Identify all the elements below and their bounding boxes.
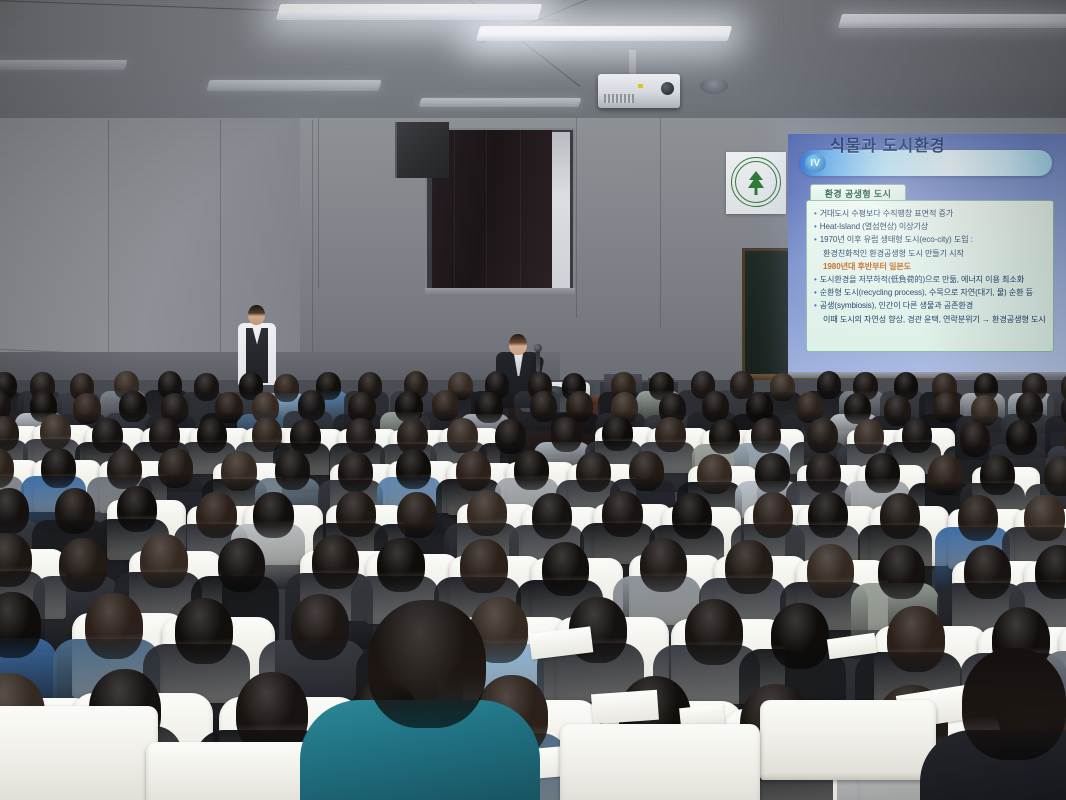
audience-member-head [1044, 456, 1066, 496]
slide-bullet: • Heat-Island (열섬현상) 이상기상 [814, 220, 1046, 233]
audience-member-head [865, 453, 900, 493]
audience-member-head [194, 373, 219, 401]
slide-bullet: • 거대도시 수평보다 수직팽창 표면적 증가 [814, 207, 1046, 220]
audience-member-head [85, 593, 143, 659]
wall-panel-seam [108, 120, 109, 370]
audience-member-head [275, 450, 310, 490]
audience-member-head [933, 392, 960, 423]
bullet-dot-icon: • [814, 207, 817, 220]
slide-bullet-text: 환경친화적인 환경공생형 도시 만들기 시작 [823, 247, 964, 260]
presenter-head [509, 334, 527, 355]
slide-bullet-text: Heat-Island (열섬현상) 이상기상 [820, 220, 929, 233]
audience-member-head [432, 390, 459, 421]
wall-panel-seam [660, 118, 661, 328]
audience-member-head [602, 416, 633, 451]
bullet-dot-icon: • [814, 286, 817, 299]
audience-member-head [197, 418, 228, 453]
audience-member-head [73, 393, 100, 424]
audience-member-head [928, 455, 963, 495]
wall-panel-seam [312, 120, 313, 382]
institution-emblem [726, 152, 786, 214]
audience-member-head [312, 535, 360, 589]
audience-member-head [41, 448, 76, 488]
audience-member-head [751, 418, 782, 453]
slide-bullet-text: 1980년대 후반부터 일본도 [823, 260, 911, 273]
audience-member-head [495, 419, 526, 454]
slide-bullet: • 순환형 도시(recycling process), 수목으로 자연(대기,… [814, 286, 1046, 299]
projector-lens [661, 82, 674, 95]
projector-vent [604, 94, 634, 103]
audience-member-head [807, 544, 855, 598]
audience-member-head [55, 488, 96, 534]
audience-member-head [753, 492, 794, 538]
audience-member-head [770, 373, 795, 401]
slide-bullet-sub: 이때 도시의 자연성 향상, 경관 윤택, 연락분위기 → 환경공생형 도시 [814, 313, 1046, 326]
audience-member-head [532, 493, 573, 539]
foreground-attendee-head [368, 600, 486, 728]
slide-bullet-accent: 1980년대 후반부터 일본도 [814, 260, 1046, 273]
slide-surface: IV 식물과 도시환경 환경 공생형 도시 • 거대도시 수평보다 수직팽창 표… [788, 134, 1066, 372]
audience-member-head [395, 391, 422, 422]
audience-member-head [640, 538, 688, 592]
audience-member-head [697, 454, 732, 494]
audience-member-head [175, 598, 233, 664]
audience-member-head [117, 486, 158, 532]
audience-member-head [725, 540, 773, 594]
slide-bullet-text: 도시환경을 저부하적(低負荷的)으로 만듦, 에너지 이용 최소화 [820, 273, 1024, 286]
audience-member-head [602, 491, 643, 537]
audience-member-head [971, 395, 998, 426]
audience-member-head [530, 391, 557, 422]
audience-member-head [456, 451, 491, 491]
audience-member-head [902, 418, 933, 453]
audience-member-head [447, 418, 478, 453]
audience-member-head [807, 418, 838, 453]
tree-icon [741, 168, 771, 198]
audience-member-head [958, 495, 999, 541]
audience-member-head [514, 450, 549, 490]
audience-member-head [629, 451, 664, 491]
audience-member-head [817, 371, 842, 399]
audience-member-head [960, 422, 991, 457]
audience-member-head [158, 448, 193, 488]
audience-member-head [92, 418, 123, 453]
audience-member-head [59, 538, 107, 592]
bullet-dot-icon: • [814, 233, 817, 246]
audience-member-head [40, 414, 71, 449]
slide-bullet: • 1970년 이후 유럽 생태형 도시(eco-city) 도입 : [814, 233, 1046, 246]
slide-bullet-sub: 환경친화적인 환경공생형 도시 만들기 시작 [814, 247, 1046, 260]
audience-member-head [709, 419, 740, 454]
microphone-head [534, 344, 542, 352]
audience-member-head [685, 599, 743, 665]
slide-bullet-text: 1970년 이후 유럽 생태형 도시(eco-city) 도입 : [820, 233, 973, 246]
window-curtain [432, 130, 552, 292]
standing-attendant-head [248, 305, 265, 325]
audience-member-head [576, 452, 611, 492]
audience-member-head [806, 453, 841, 493]
slide-title: 식물과 도시환경 [830, 136, 946, 158]
audience-member-head [655, 417, 686, 452]
slide-bullet: • 도시환경을 저부하적(低負荷的)으로 만듦, 에너지 이용 최소화 [814, 273, 1046, 286]
audience-member-head [551, 417, 582, 452]
audience-member-head [298, 390, 325, 421]
audience-member-head [1016, 392, 1043, 423]
notebook-paper [591, 690, 659, 725]
audience-member-head [1024, 495, 1065, 541]
bullet-dot-icon: • [814, 273, 817, 286]
audience-member-head [221, 451, 256, 491]
bullet-dot-icon: • [814, 299, 817, 312]
slide-bullet: • 공생(symbiosis), 인간이 다른 생물과 공존환경 [814, 299, 1046, 312]
audience-member-head [854, 419, 885, 454]
audience-member-head [542, 542, 590, 596]
audience-member-head [964, 545, 1012, 599]
audience-member-head [253, 492, 294, 538]
bullet-dot-icon: • [814, 220, 817, 233]
audience-member-head [107, 449, 142, 489]
chair [760, 700, 936, 780]
window-daylight-gap [552, 132, 570, 290]
slide-bullet-text: 거대도시 수평보다 수직팽창 표면적 증가 [820, 207, 953, 220]
audience-member-head [218, 538, 266, 592]
audience-member-head [771, 603, 829, 669]
audience-member-head [475, 392, 502, 423]
audience-member-head [878, 545, 926, 599]
audience-member-head [291, 594, 349, 660]
projector-led [638, 84, 643, 88]
audience-member-head [346, 418, 377, 453]
chair [0, 706, 158, 800]
audience-member-head [1035, 545, 1066, 599]
audience-member-head [274, 374, 299, 402]
slide-section-number: IV [805, 154, 826, 172]
ceiling-vent [700, 78, 728, 94]
ceiling-light [419, 98, 582, 107]
wall-panel-seam [576, 118, 577, 318]
ceiling-light [476, 26, 732, 41]
audience-member-head [460, 539, 508, 593]
audience-member-head [140, 534, 188, 588]
audience-member-head [1006, 420, 1037, 455]
audience-member-head [377, 538, 425, 592]
wall-speaker [395, 122, 449, 178]
audience-member-head [336, 491, 377, 537]
slide-bullet-text: 순환형 도시(recycling process), 수목으로 자연(대기, 물… [820, 286, 1033, 299]
chair [560, 724, 760, 800]
projection-screen: IV 식물과 도시환경 환경 공생형 도시 • 거대도시 수평보다 수직팽창 표… [788, 134, 1066, 378]
window-sill [425, 288, 575, 296]
audience-member-head [290, 419, 321, 454]
audience-member-head [702, 391, 729, 422]
audience-member-head [672, 493, 713, 539]
audience-member-head [980, 455, 1015, 495]
audience-member-head [755, 453, 790, 493]
audience-member-head [196, 492, 237, 538]
wall-panel-seam [220, 120, 221, 378]
photo-scene: IV 식물과 도시환경 환경 공생형 도시 • 거대도시 수평보다 수직팽창 표… [0, 0, 1066, 800]
audience-member-head [808, 492, 849, 538]
audience-member-head [338, 452, 373, 492]
slide-bullet-text: 공생(symbiosis), 인간이 다른 생물과 공존환경 [820, 299, 973, 312]
audience-member-head [119, 391, 146, 422]
audience-member-head [880, 493, 921, 539]
slide-body-panel: • 거대도시 수평보다 수직팽창 표면적 증가 • Heat-Island (열… [806, 200, 1054, 352]
ceiling-light [838, 14, 1066, 28]
audience-member-head [396, 449, 431, 489]
foreground-attendee-head [962, 648, 1066, 760]
ceiling-light [276, 4, 543, 20]
ceiling-light [0, 60, 127, 70]
audience-member-head [467, 490, 508, 536]
audience-member-head [887, 606, 945, 672]
audience-member-head [397, 492, 438, 538]
audience-member-head [252, 417, 283, 452]
slide-bullet-text: 이때 도시의 자연성 향상, 경관 윤택, 연락분위기 → 환경공생형 도시 [823, 313, 1046, 326]
ceiling-projector [598, 74, 680, 108]
wall-panel-seam [318, 118, 319, 288]
ceiling-light [206, 80, 381, 91]
audience-member-head [215, 392, 242, 423]
